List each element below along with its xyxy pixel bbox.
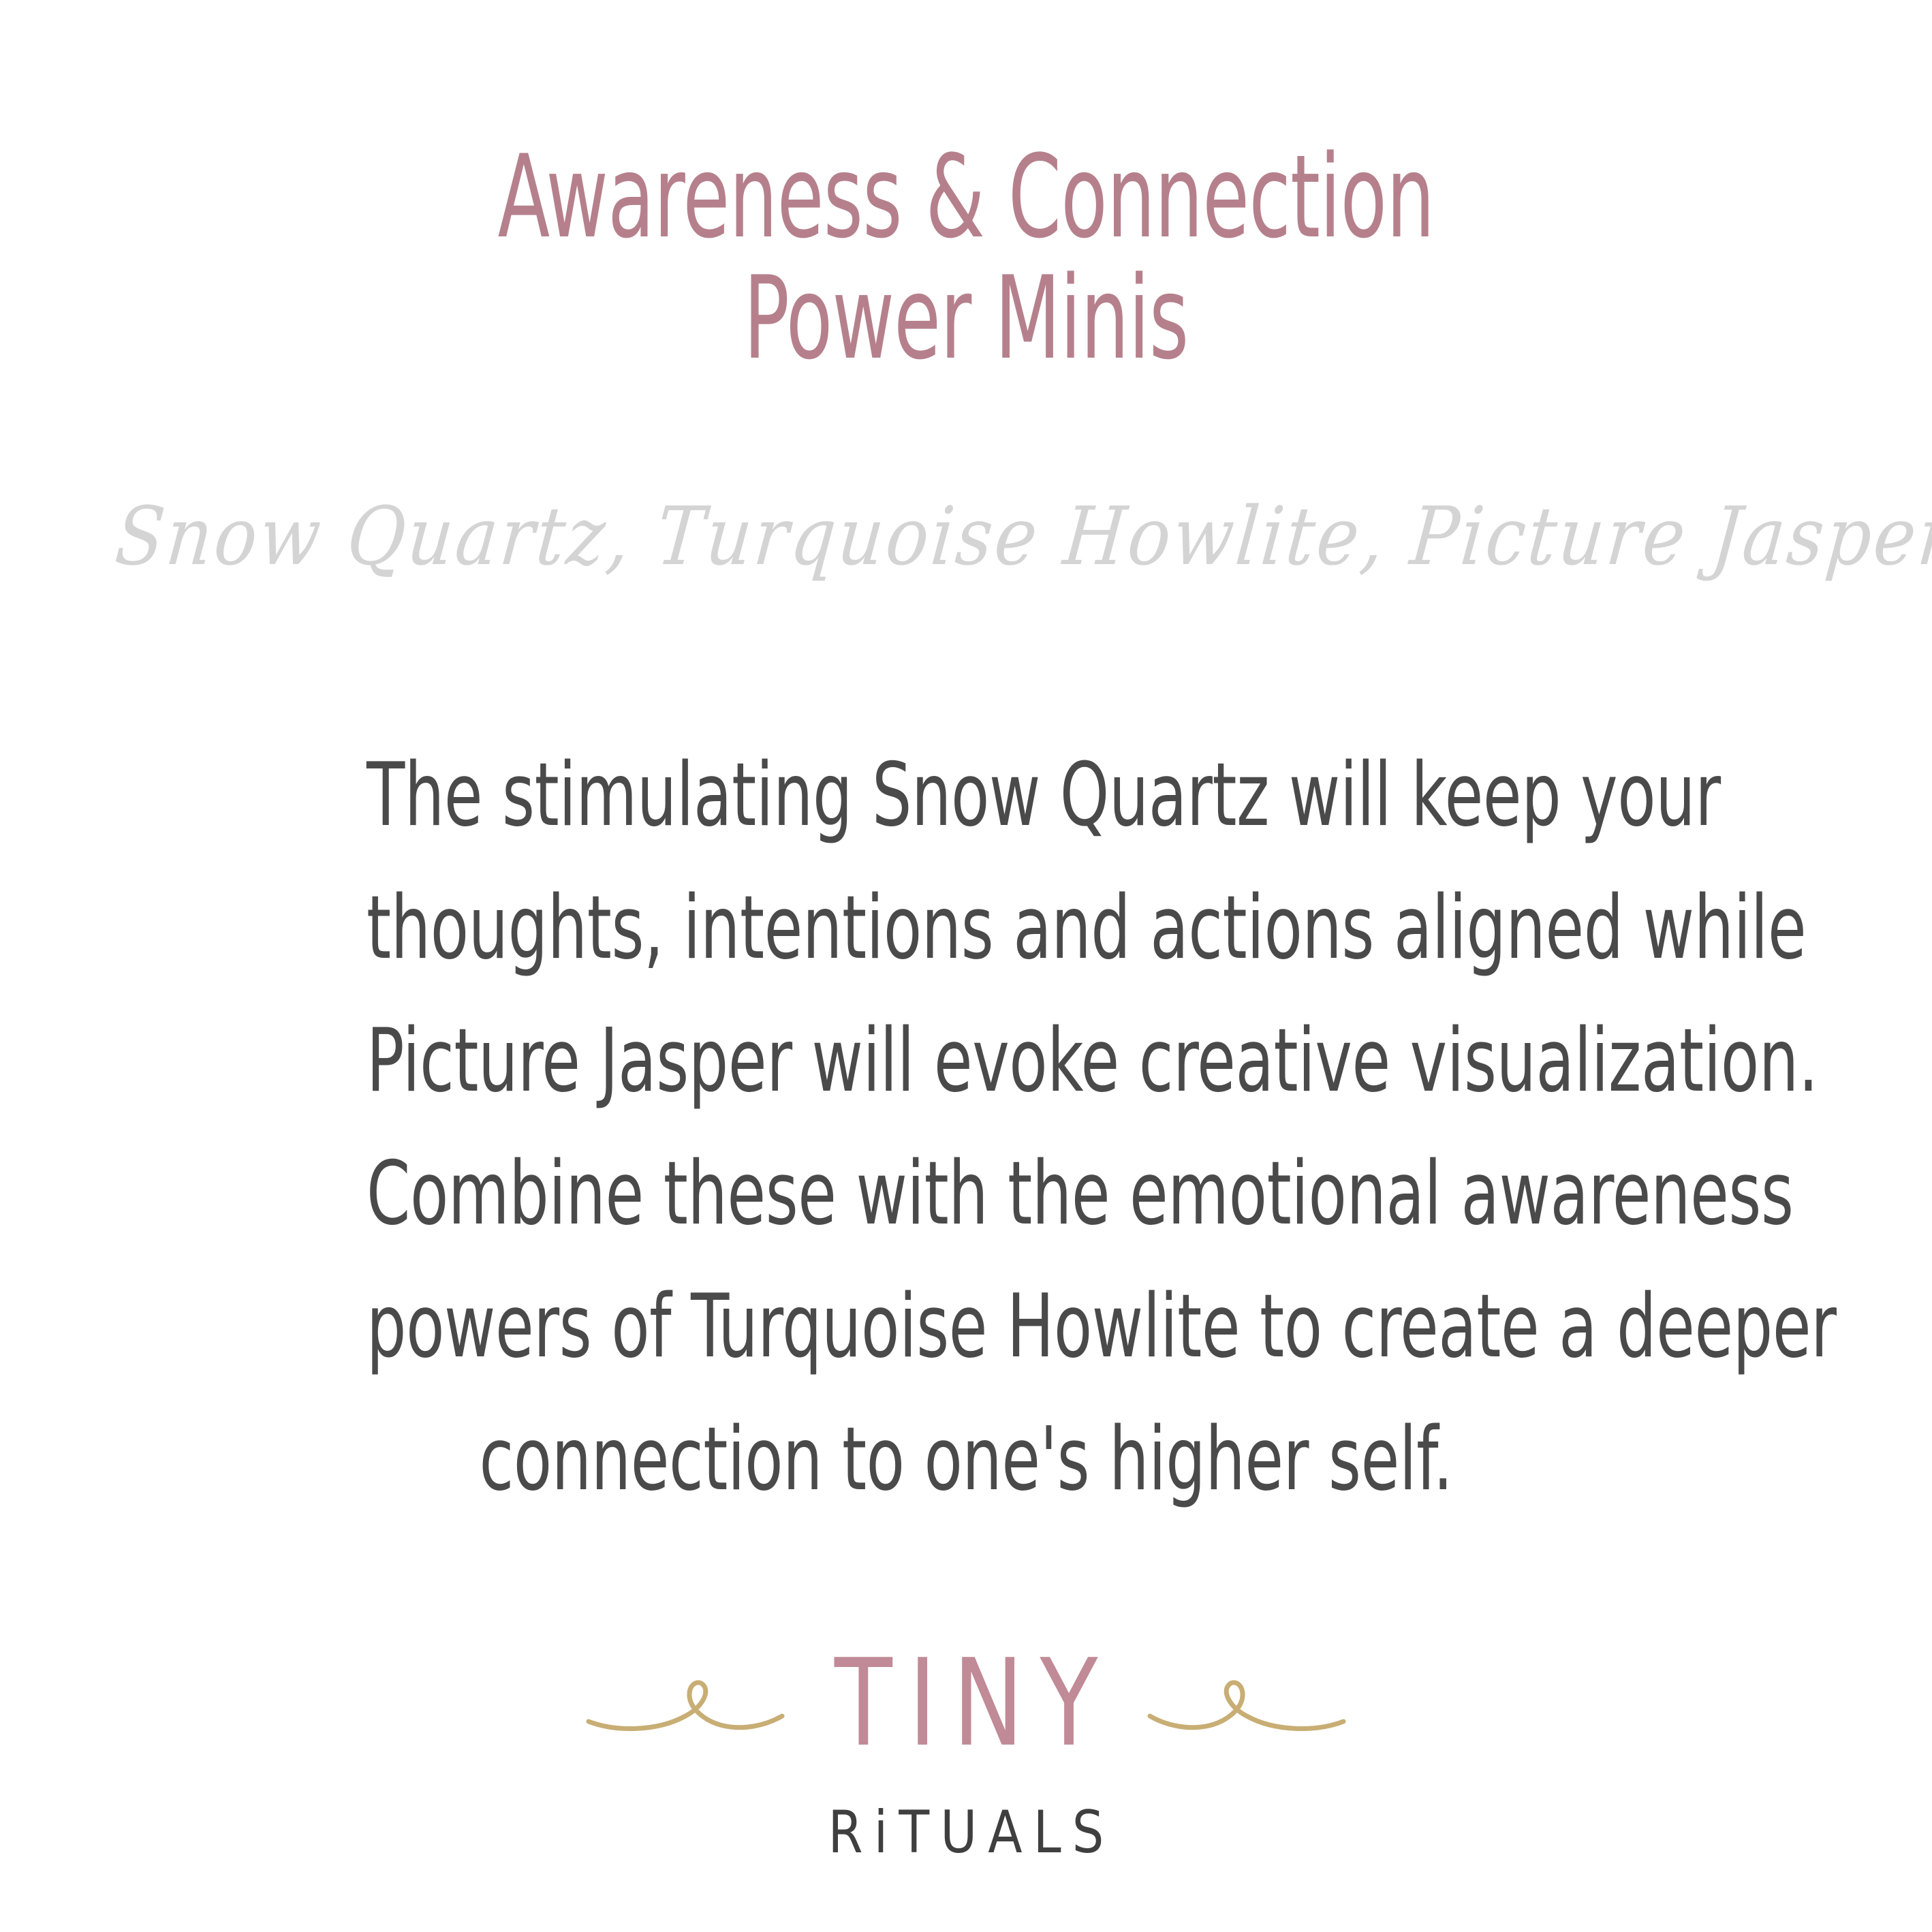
body-line: The stimulating Snow Quartz will keep yo… [367, 729, 1565, 862]
body-line: thoughts, intentions and actions aligned… [367, 862, 1565, 995]
body-line: Combine these with the emotional awarene… [367, 1127, 1565, 1260]
flourish-left-icon [583, 1645, 788, 1761]
page-title: Awareness & Connection Power Minis [0, 136, 1932, 379]
body-line: Picture Jasper will evoke creative visua… [367, 995, 1565, 1127]
logo-rituals-text: RiTUALS [48, 1803, 1884, 1862]
product-description-card: Awareness & Connection Power Minis Snow … [0, 0, 1932, 1932]
body-paragraph: The stimulating Snow Quartz will keep yo… [217, 729, 1715, 1526]
title-line-1: Awareness & Connection [251, 136, 1681, 258]
logo-tiny-text: TINY [802, 1643, 1130, 1763]
title-line-2: Power Minis [251, 258, 1681, 379]
body-line: connection to one's higher self. [367, 1393, 1565, 1526]
subtitle-stone-list: Snow Quartz, Turquoise Howlite, Picture … [112, 489, 1820, 583]
body-line: powers of Turquoise Howlite to create a … [367, 1260, 1565, 1393]
flourish-right-icon [1144, 1645, 1349, 1761]
brand-logo: TINY RiTUALS [0, 1632, 1932, 1862]
logo-wordmark-row: TINY [0, 1632, 1932, 1775]
